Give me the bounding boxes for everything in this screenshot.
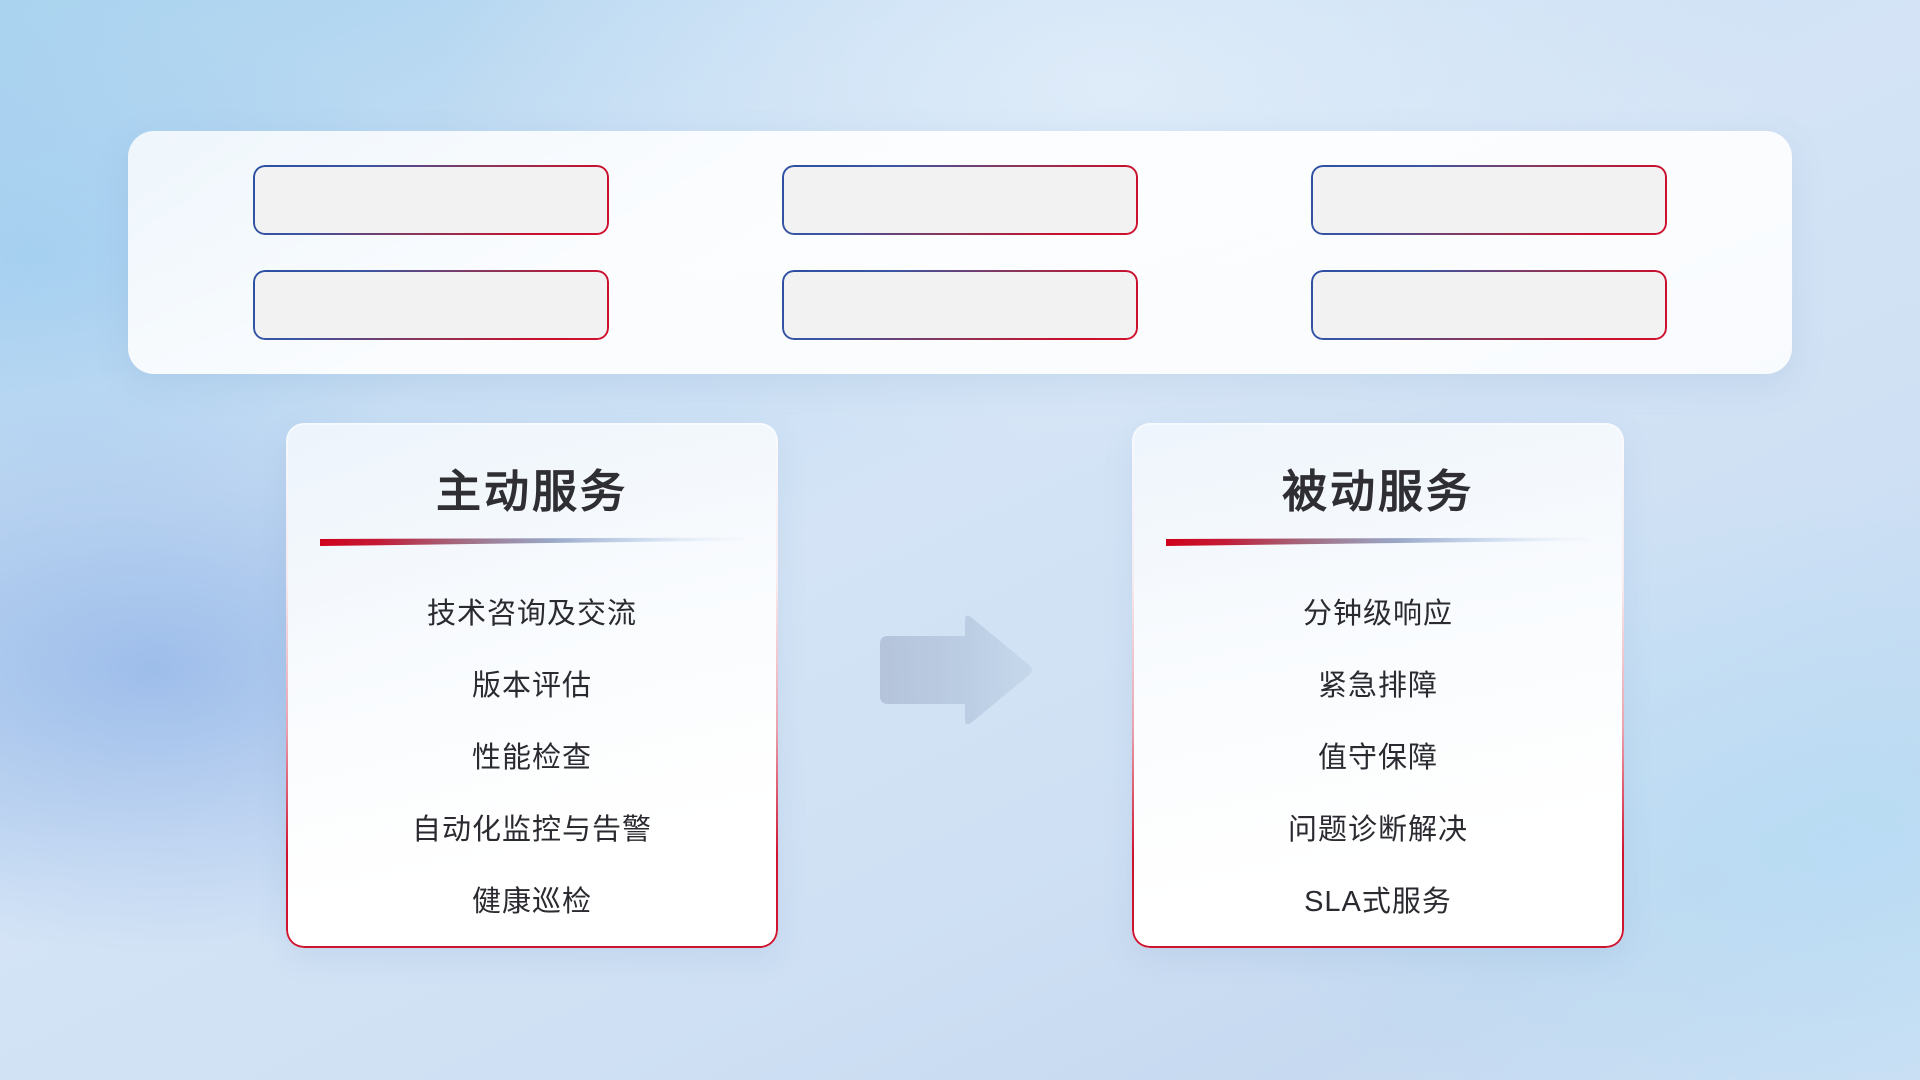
card-item[interactable]: 技术咨询及交流 <box>286 578 778 650</box>
capability-panel: 自动化巡检工具 自动化性能数据采集 智能化性能分析 智能化性能分析 标准化文档模… <box>128 131 1792 374</box>
card-item[interactable]: 健康巡检 <box>286 866 778 938</box>
card-item[interactable]: 自动化监控与告警 <box>286 794 778 866</box>
flow-arrow <box>868 614 1034 724</box>
card-item[interactable]: 紧急排障 <box>1132 650 1624 722</box>
card-item[interactable]: 分钟级响应 <box>1132 578 1624 650</box>
capability-pill-1[interactable]: 自动化巡检工具 <box>253 165 609 235</box>
service-card-reactive: 被动服务 分钟级响应 紧急排障 值守保障 问题诊断解决 SLA式服务 <box>1132 423 1624 948</box>
card-item[interactable]: 性能检查 <box>286 722 778 794</box>
card-item[interactable]: SLA式服务 <box>1132 866 1624 938</box>
capability-pill-2[interactable]: 自动化性能数据采集 <box>782 165 1138 235</box>
right-arrow-icon <box>868 614 1034 724</box>
service-card-proactive: 主动服务 技术咨询及交流 版本评估 性能检查 自动化监控与告警 健康巡检 <box>286 423 778 948</box>
card-item-list: 技术咨询及交流 版本评估 性能检查 自动化监控与告警 健康巡检 <box>286 578 778 938</box>
title-divider <box>320 536 744 548</box>
card-title: 被动服务 <box>1132 455 1624 520</box>
card-item[interactable]: 值守保障 <box>1132 722 1624 794</box>
capability-pill-6[interactable]: 集中监控平台 <box>1311 270 1667 340</box>
card-item[interactable]: 版本评估 <box>286 650 778 722</box>
card-title: 主动服务 <box>286 455 778 520</box>
card-item[interactable]: 问题诊断解决 <box>1132 794 1624 866</box>
title-divider <box>1166 536 1590 548</box>
capability-pill-5[interactable]: 标准化文档模板 <box>782 270 1138 340</box>
capability-pill-3[interactable]: 智能化性能分析 <box>1311 165 1667 235</box>
capability-pill-4[interactable]: 智能化性能分析 <box>253 270 609 340</box>
card-item-list: 分钟级响应 紧急排障 值守保障 问题诊断解决 SLA式服务 <box>1132 578 1624 938</box>
